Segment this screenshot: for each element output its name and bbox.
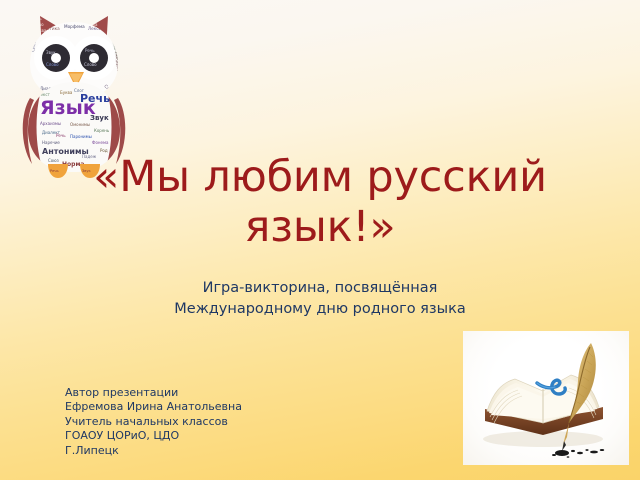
svg-text:Речь: Речь — [85, 48, 95, 53]
ink-splatter — [552, 449, 604, 458]
svg-text:Звук: Звук — [46, 50, 56, 55]
author-line-name: Ефремова Ирина Анатольевна — [65, 400, 242, 414]
svg-text:Морфема: Морфема — [64, 24, 85, 29]
presentation-slide: Речь Слово Буква Текст Звук Язык Норма П… — [0, 0, 640, 480]
author-line-position: Учитель начальных классов — [65, 415, 242, 429]
svg-text:Слово: Слово — [46, 62, 59, 67]
svg-text:Слово: Слово — [84, 62, 97, 67]
svg-text:Речь: Речь — [32, 16, 42, 21]
author-line-role: Автор презентации — [65, 386, 242, 400]
word-rech: Речь — [80, 92, 110, 105]
svg-text:Речь: Речь — [56, 133, 66, 138]
svg-text:Архаизмы: Архаизмы — [40, 121, 61, 126]
svg-text:Наречие: Наречие — [42, 140, 60, 145]
owl-eye-left: Звук Слово — [42, 44, 70, 72]
svg-text:Фонема: Фонема — [92, 140, 109, 145]
svg-text:Слово: Слово — [31, 22, 44, 27]
word-zvuk: Звук — [90, 114, 109, 122]
svg-text:Слог: Слог — [74, 88, 84, 93]
svg-text:Паронимы: Паронимы — [70, 134, 92, 139]
author-line-city: Г.Липецк — [65, 444, 242, 458]
svg-text:Корень: Корень — [94, 128, 110, 133]
author-line-organization: ГОАОУ ЦОРиО, ЦДО — [65, 429, 242, 443]
svg-text:Омонимы: Омонимы — [70, 122, 90, 127]
open-book-with-quill-image — [463, 331, 629, 465]
svg-text:Орфография: Орфография — [28, 6, 40, 32]
slide-title: «Мы любим русский язык!» — [36, 152, 604, 253]
author-block: Автор презентации Ефремова Ирина Анатоль… — [65, 386, 242, 458]
svg-text:Язык: Язык — [82, 16, 93, 21]
svg-text:Буква: Буква — [60, 90, 73, 95]
owl-eye-right: Речь Слово — [80, 44, 108, 72]
slide-subtitle: Игра-викторина, посвящённая Международно… — [70, 278, 570, 319]
svg-text:Текст: Текст — [37, 92, 51, 97]
